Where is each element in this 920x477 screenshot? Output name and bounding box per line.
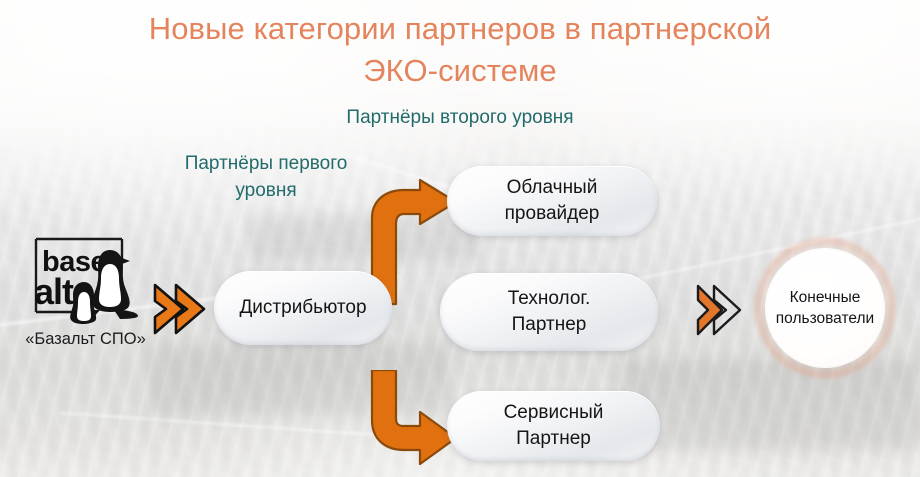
penguin-logo-icon: base alt (18, 234, 153, 326)
label-level-one: Партнёры первого уровня (137, 150, 395, 204)
background-shade-3 (250, 215, 480, 260)
background-shade-2 (620, 360, 920, 450)
node-service-partner[interactable]: Сервисный Партнер (447, 391, 660, 461)
background-shade-1 (150, 345, 450, 415)
label-level-two: Партнёры второго уровня (0, 105, 920, 131)
basealt-logo: base alt «Базальт СПО» (18, 234, 153, 349)
page-title: Новые категории партнеров в партнерской … (0, 8, 920, 92)
node-tech-partner[interactable]: Технолог. Партнер (440, 273, 658, 351)
node-end-users[interactable]: Конечные пользователи (766, 249, 884, 367)
svg-text:alt: alt (34, 271, 74, 312)
basealt-logo-caption: «Базальт СПО» (18, 330, 153, 349)
node-cloud-provider[interactable]: Облачный провайдер (447, 166, 657, 236)
slide-canvas: Новые категории партнеров в партнерской … (0, 0, 920, 477)
node-distributor[interactable]: Дистрибьютор (214, 271, 392, 345)
